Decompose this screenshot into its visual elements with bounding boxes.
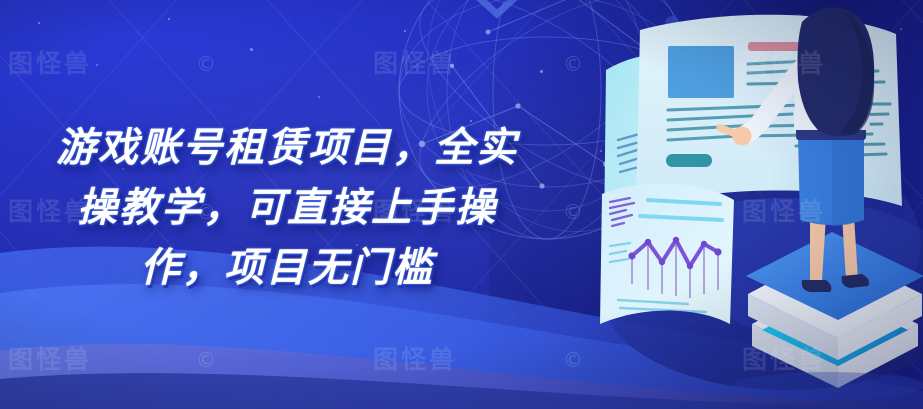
- page-title: 游戏账号租赁项目，全实 操教学，可直接上手操 作，项目无门槛: [0, 118, 574, 298]
- poster-canvas: 游戏账号租赁项目，全实 操教学，可直接上手操 作，项目无门槛 图怪兽 图怪兽 图…: [0, 0, 923, 409]
